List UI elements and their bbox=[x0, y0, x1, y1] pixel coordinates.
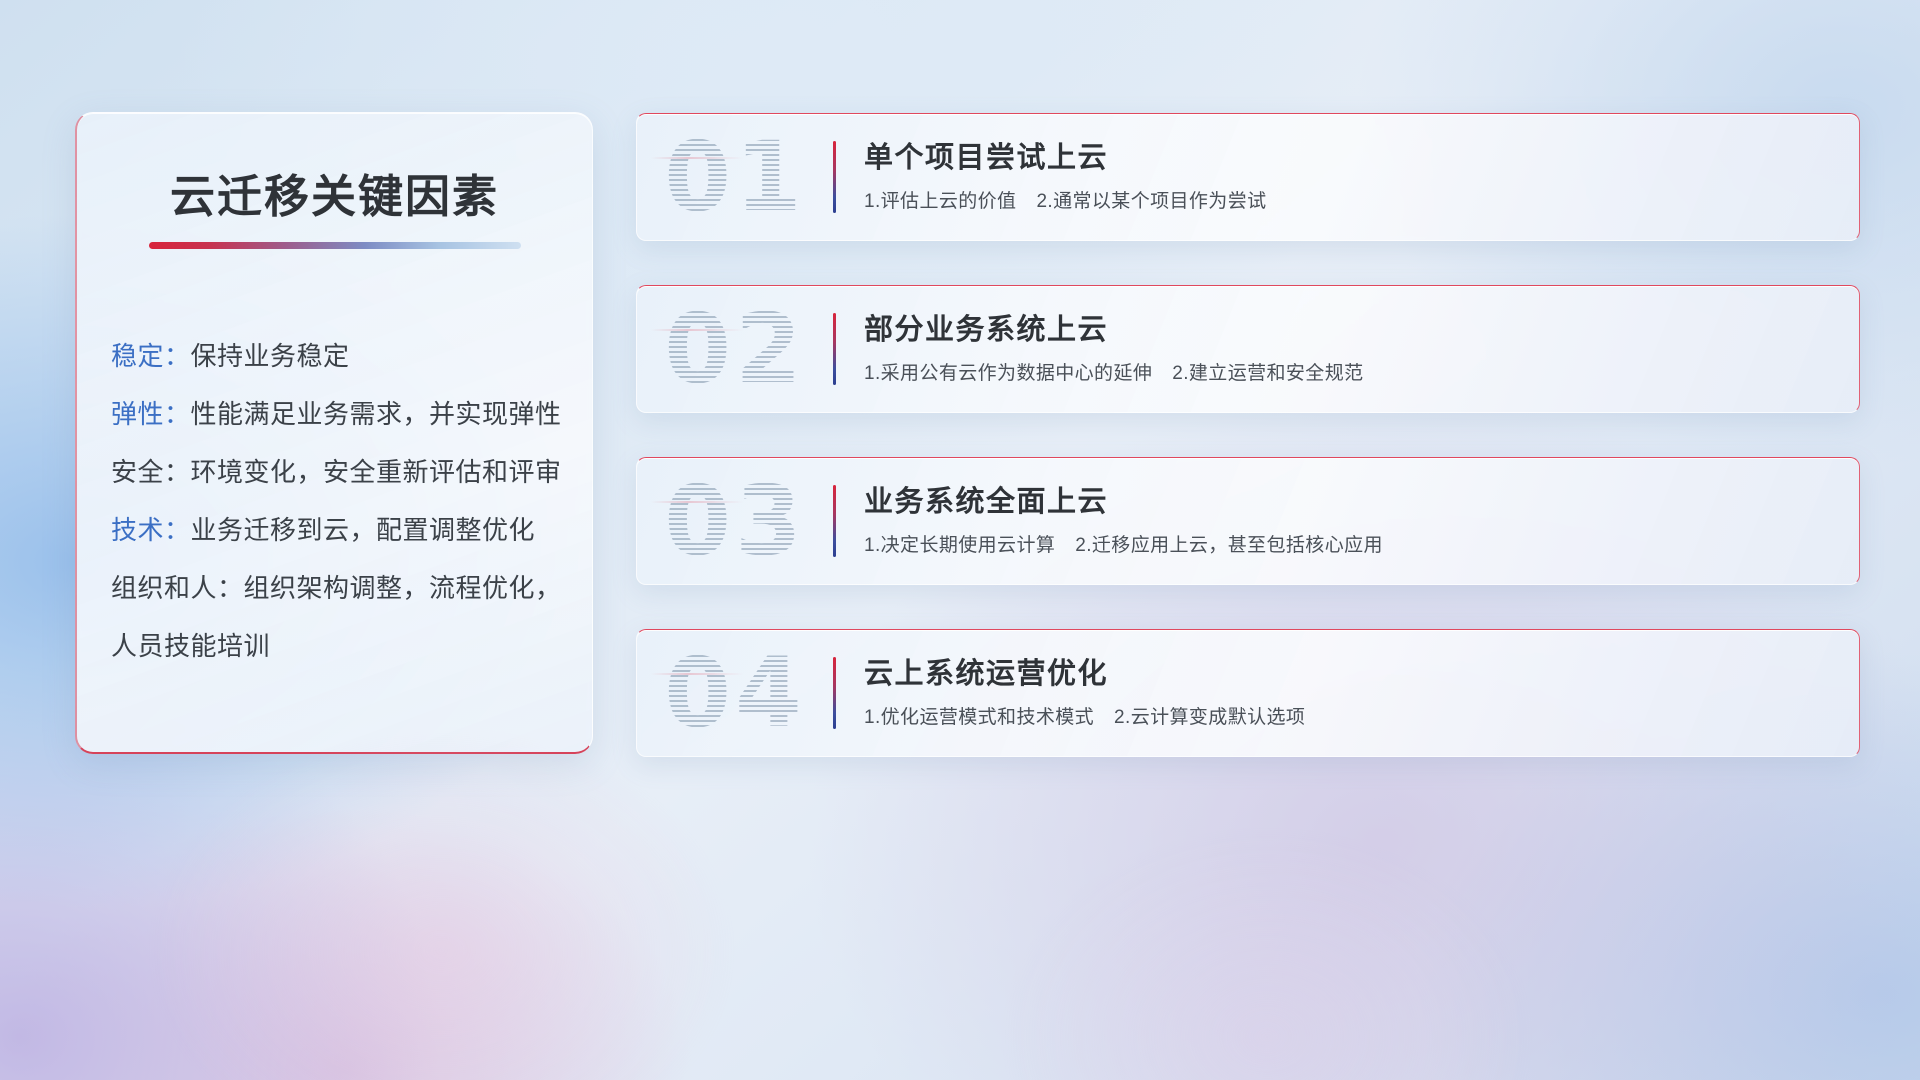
stage-description: 1.优化运营模式和技术模式2.云计算变成默认选项 bbox=[864, 702, 1839, 729]
stage-card-body: 部分业务系统上云 1.采用公有云作为数据中心的延伸2.建立运营和安全规范 bbox=[836, 313, 1859, 386]
stage-point-2: 2.云计算变成默认选项 bbox=[1114, 707, 1305, 728]
stage-card[interactable]: 02 部分业务系统上云 1.采用公有云作为数据中心的延伸2.建立运营和安全规范 bbox=[636, 285, 1860, 413]
stage-number-watermark: 01 bbox=[637, 114, 833, 240]
stage-number-glyph: 04 bbox=[664, 645, 806, 741]
stage-point-1: 1.采用公有云作为数据中心的延伸 bbox=[864, 363, 1152, 384]
page-title: 云迁移关键因素 bbox=[77, 160, 592, 225]
factor-value: 业务迁移到云，配置调整优化 bbox=[191, 515, 536, 545]
stage-card-body: 云上系统运营优化 1.优化运营模式和技术模式2.云计算变成默认选项 bbox=[836, 657, 1859, 730]
stage-card[interactable]: 03 业务系统全面上云 1.决定长期使用云计算2.迁移应用上云，甚至包括核心应用 bbox=[636, 457, 1860, 585]
stage-number-glyph: 01 bbox=[664, 129, 806, 225]
list-item: 技术：业务迁移到云，配置调整优化 bbox=[111, 501, 592, 559]
list-item: 组织和人：组织架构调整，流程优化， bbox=[111, 559, 592, 617]
factor-key: 安全： bbox=[111, 457, 191, 487]
factor-value: 环境变化，安全重新评估和评审 bbox=[191, 457, 562, 487]
list-item: 人员技能培训 bbox=[111, 617, 592, 675]
stage-card[interactable]: 01 单个项目尝试上云 1.评估上云的价值2.通常以某个项目作为尝试 bbox=[636, 113, 1860, 241]
stage-number-glyph: 03 bbox=[664, 473, 806, 569]
stage-title: 云上系统运营优化 bbox=[864, 657, 1839, 692]
stage-number-glyph: 02 bbox=[664, 301, 806, 397]
stage-point-1: 1.决定长期使用云计算 bbox=[864, 535, 1055, 556]
factor-key: 稳定： bbox=[111, 341, 191, 371]
stage-number-watermark: 02 bbox=[637, 286, 833, 412]
stage-number-watermark: 03 bbox=[637, 458, 833, 584]
stage-card[interactable]: 04 云上系统运营优化 1.优化运营模式和技术模式2.云计算变成默认选项 bbox=[636, 629, 1860, 757]
stage-point-1: 1.评估上云的价值 bbox=[864, 191, 1016, 212]
stage-point-2: 2.建立运营和安全规范 bbox=[1172, 363, 1363, 384]
factor-value: 组织架构调整，流程优化， bbox=[244, 573, 562, 603]
stage-point-2: 2.迁移应用上云，甚至包括核心应用 bbox=[1075, 535, 1383, 556]
list-item: 稳定：保持业务稳定 bbox=[111, 327, 592, 385]
factor-key: 技术： bbox=[111, 515, 191, 545]
stage-description: 1.采用公有云作为数据中心的延伸2.建立运营和安全规范 bbox=[864, 358, 1839, 385]
title-underline-rule bbox=[149, 242, 521, 249]
stage-description: 1.评估上云的价值2.通常以某个项目作为尝试 bbox=[864, 186, 1839, 213]
list-item: 弹性：性能满足业务需求，并实现弹性 bbox=[111, 385, 592, 443]
stage-card-body: 单个项目尝试上云 1.评估上云的价值2.通常以某个项目作为尝试 bbox=[836, 141, 1859, 214]
list-item: 安全：环境变化，安全重新评估和评审 bbox=[111, 443, 592, 501]
slide-canvas: 云迁移关键因素 稳定：保持业务稳定 弹性：性能满足业务需求，并实现弹性 安全：环… bbox=[0, 0, 1920, 1080]
factor-value: 性能满足业务需求，并实现弹性 bbox=[191, 399, 562, 429]
factor-value: 保持业务稳定 bbox=[191, 341, 350, 371]
key-factors-list: 稳定：保持业务稳定 弹性：性能满足业务需求，并实现弹性 安全：环境变化，安全重新… bbox=[111, 327, 592, 675]
key-factors-panel: 云迁移关键因素 稳定：保持业务稳定 弹性：性能满足业务需求，并实现弹性 安全：环… bbox=[75, 112, 593, 754]
factor-value: 人员技能培训 bbox=[111, 631, 270, 661]
stage-title: 部分业务系统上云 bbox=[864, 313, 1839, 348]
stage-description: 1.决定长期使用云计算2.迁移应用上云，甚至包括核心应用 bbox=[864, 530, 1839, 557]
stage-point-1: 1.优化运营模式和技术模式 bbox=[864, 707, 1094, 728]
stage-card-list: 01 单个项目尝试上云 1.评估上云的价值2.通常以某个项目作为尝试 02 部分… bbox=[636, 113, 1860, 757]
stage-point-2: 2.通常以某个项目作为尝试 bbox=[1036, 191, 1266, 212]
stage-title: 单个项目尝试上云 bbox=[864, 141, 1839, 176]
factor-key: 组织和人： bbox=[111, 573, 244, 603]
stage-number-watermark: 04 bbox=[637, 630, 833, 756]
stage-card-body: 业务系统全面上云 1.决定长期使用云计算2.迁移应用上云，甚至包括核心应用 bbox=[836, 485, 1859, 558]
stage-title: 业务系统全面上云 bbox=[864, 485, 1839, 520]
factor-key: 弹性： bbox=[111, 399, 191, 429]
